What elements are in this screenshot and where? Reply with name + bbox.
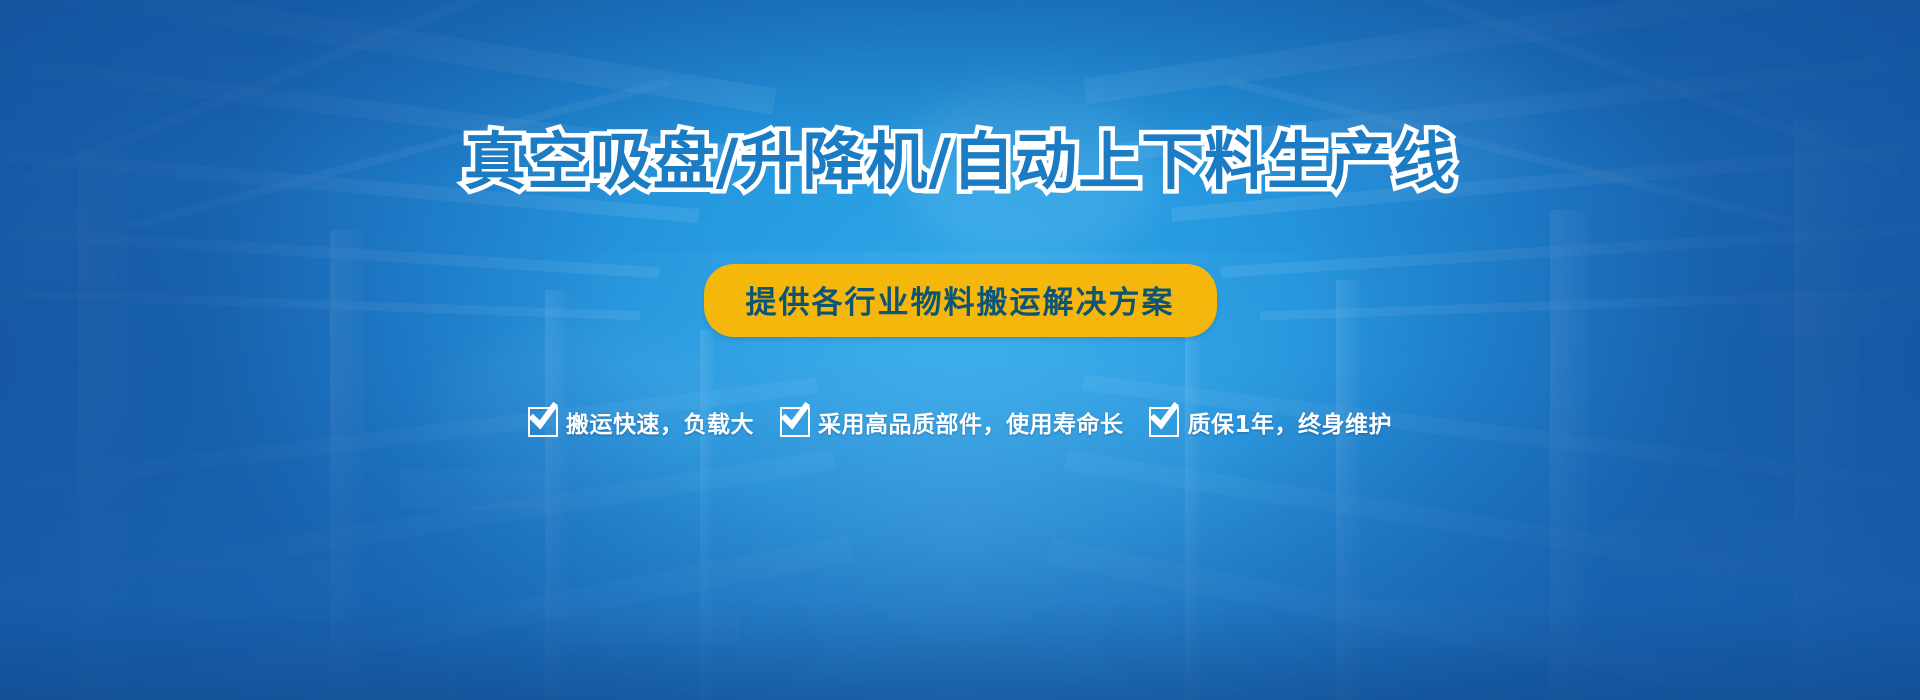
page-title: 真空吸盘/升降机/自动上下料生产线 (464, 128, 1456, 196)
feature-label: 搬运快速，负载大 (566, 405, 754, 439)
checkbox-check-icon (528, 407, 558, 437)
feature-item-3: 质保1年，终身维护 (1149, 405, 1392, 439)
banner-content: 真空吸盘/升降机/自动上下料生产线 提供各行业物料搬运解决方案 搬运快速，负载大… (0, 0, 1920, 700)
hero-banner: 真空吸盘/升降机/自动上下料生产线 提供各行业物料搬运解决方案 搬运快速，负载大… (0, 0, 1920, 700)
tagline-badge: 提供各行业物料搬运解决方案 (704, 264, 1217, 337)
feature-item-2: 采用高品质部件，使用寿命长 (780, 405, 1124, 439)
feature-item-1: 搬运快速，负载大 (528, 405, 754, 439)
feature-list: 搬运快速，负载大 采用高品质部件，使用寿命长 质保1年，终身维护 (528, 405, 1392, 439)
checkbox-check-icon (1149, 407, 1179, 437)
feature-label: 质保1年，终身维护 (1187, 405, 1392, 439)
checkbox-check-icon (780, 407, 810, 437)
feature-label: 采用高品质部件，使用寿命长 (818, 405, 1124, 439)
